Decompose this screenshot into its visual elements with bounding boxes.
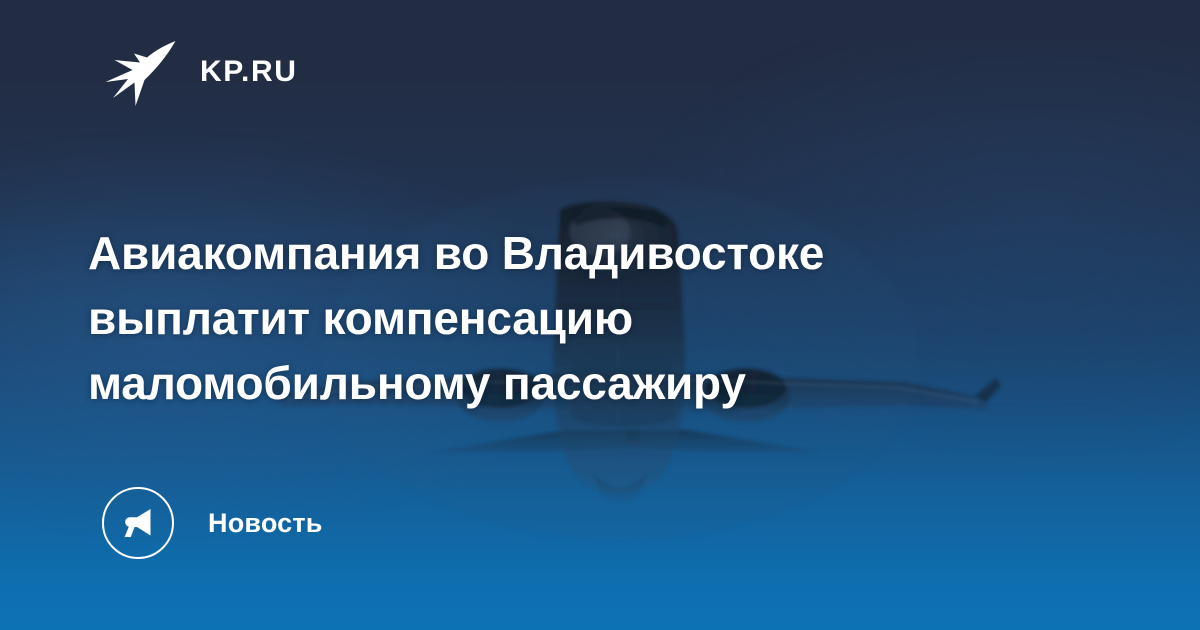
page-title: Авиакомпания во Владивостоке выплатит ко… — [88, 221, 1048, 417]
megaphone-icon — [119, 504, 157, 542]
swallow-bird-icon — [104, 36, 178, 108]
category-label: Новость — [208, 508, 323, 539]
logo-wordmark: KP.RU — [200, 55, 297, 89]
social-share-card: KP.RU Авиакомпания во Владивостоке выпла… — [0, 0, 1200, 630]
category-badge[interactable]: Новость — [102, 487, 323, 559]
badge-icon-circle — [102, 487, 174, 559]
site-logo[interactable]: KP.RU — [104, 36, 297, 108]
